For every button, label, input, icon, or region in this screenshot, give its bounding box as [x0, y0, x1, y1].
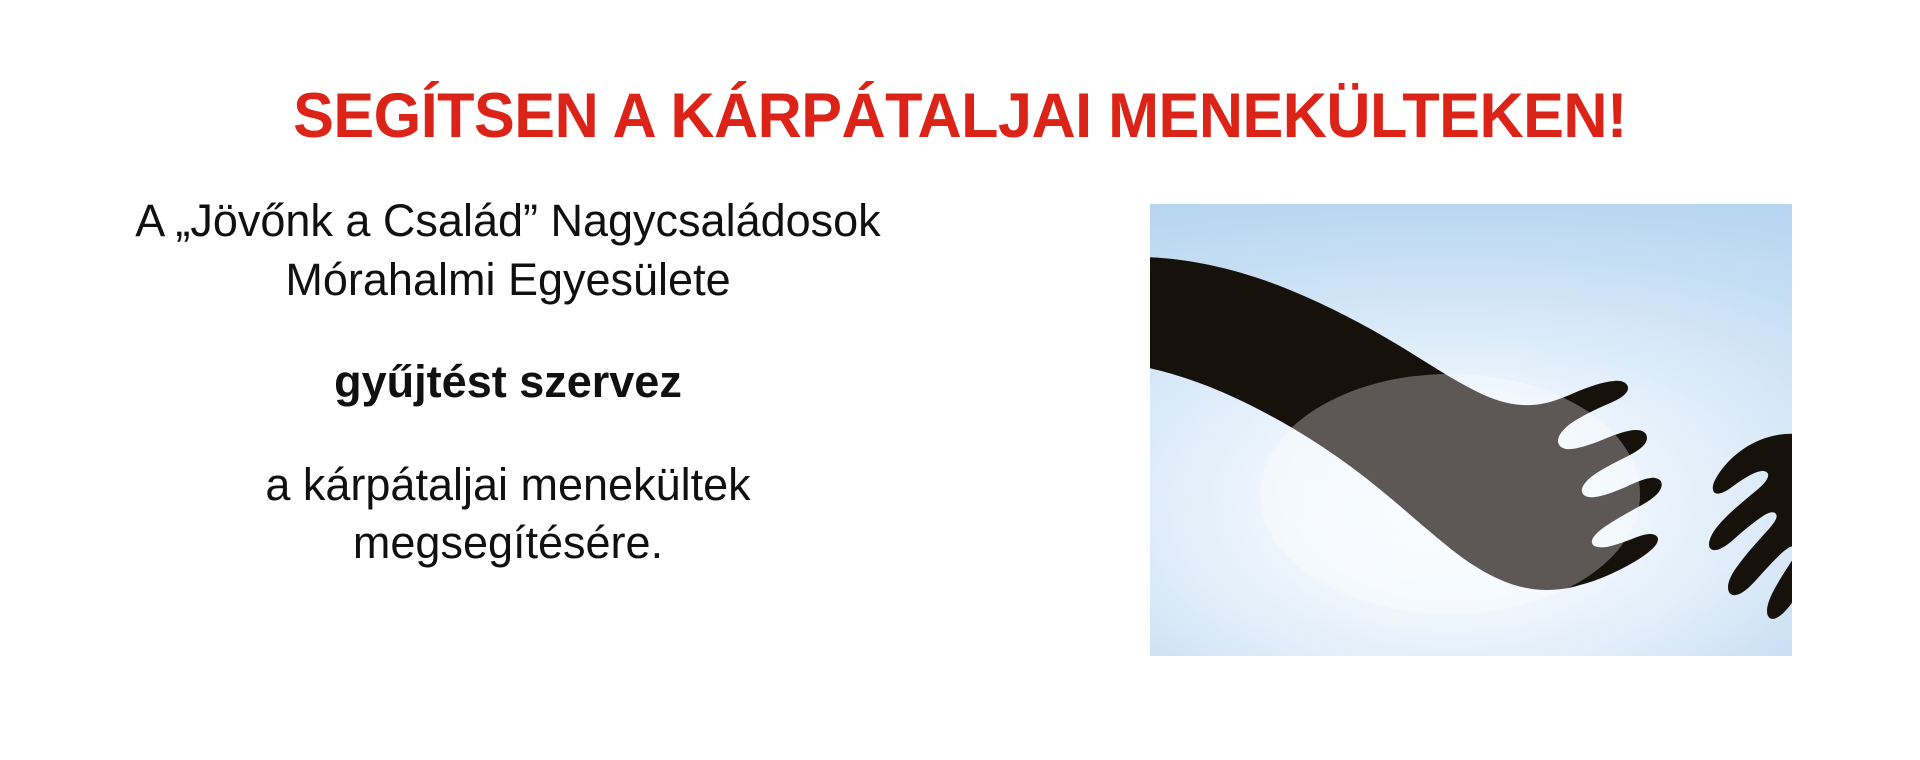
purpose-line-2: megsegítésére.	[88, 514, 928, 573]
organisation-name-line-1: A „Jövőnk a Család” Nagycsaládosok	[88, 192, 928, 251]
poster-canvas: SEGÍTSEN A KÁRPÁTALJAI MENEKÜLTEKEN! A „…	[0, 0, 1920, 760]
action-statement: gyűjtést szervez	[88, 353, 928, 412]
helping-hands-illustration	[1150, 204, 1792, 656]
organisation-name-line-2: Mórahalmi Egyesülete	[88, 251, 928, 310]
center-glow	[1260, 374, 1640, 614]
helping-hands-photo	[1150, 204, 1792, 656]
body-text-column: A „Jövőnk a Család” Nagycsaládosok Mórah…	[88, 192, 928, 573]
page-title: SEGÍTSEN A KÁRPÁTALJAI MENEKÜLTEKEN!	[29, 84, 1891, 148]
purpose-line-1: a kárpátaljai menekültek	[88, 456, 928, 515]
